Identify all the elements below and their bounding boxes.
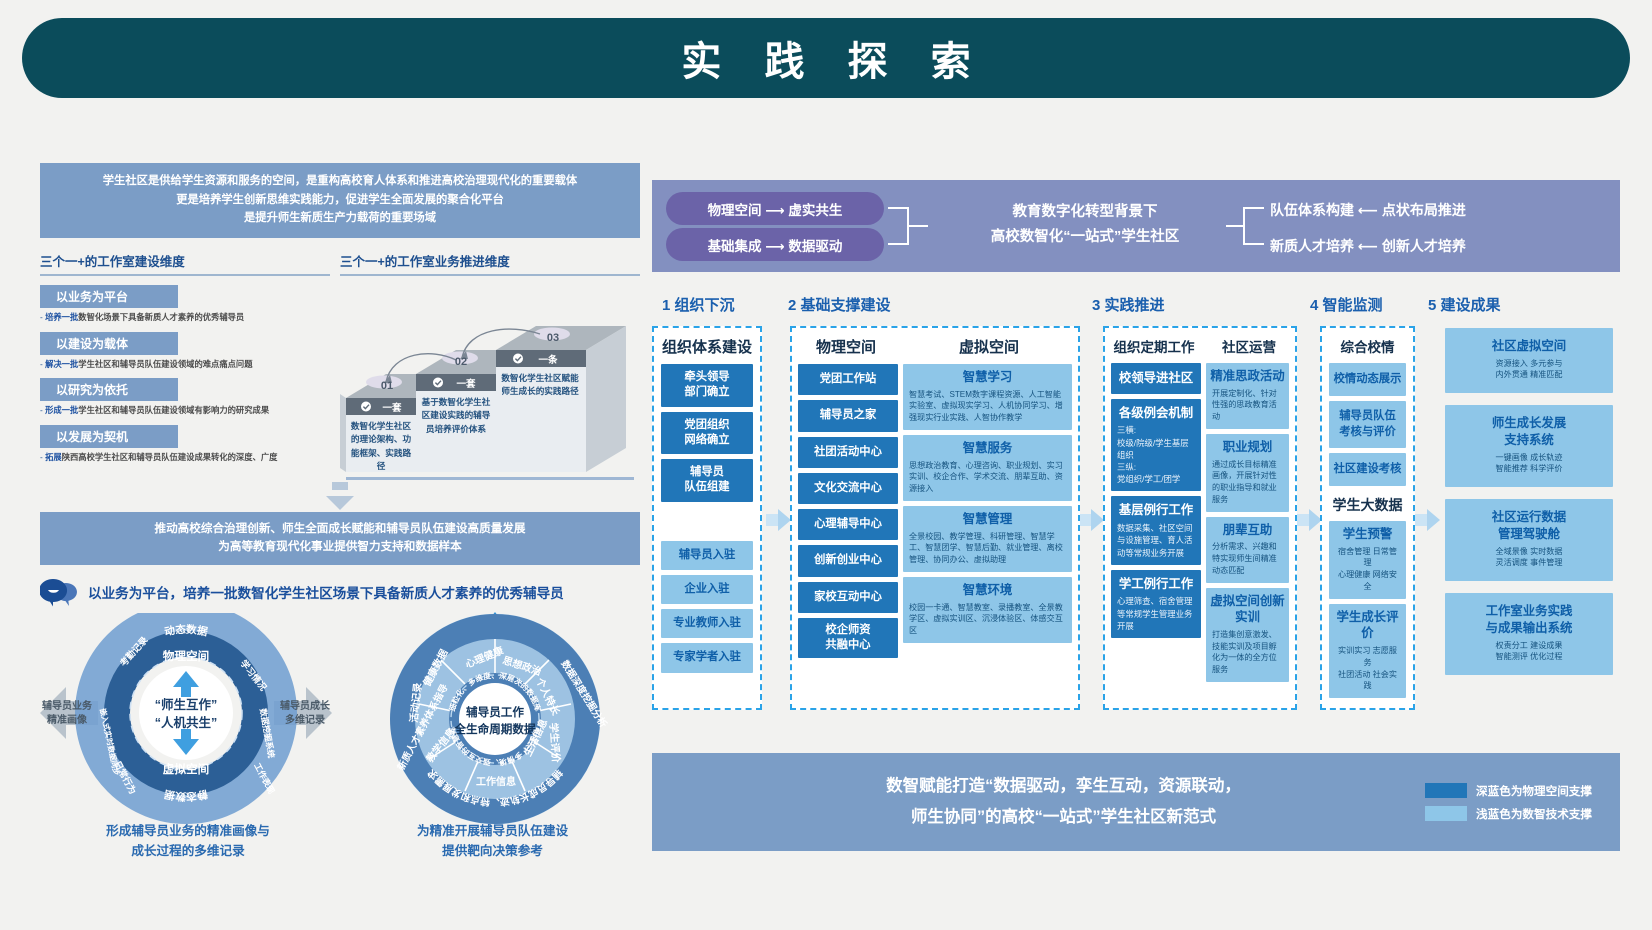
left-panel: 学生社区是供给学生资源和服务的空间，是重构高校育人体系和推进高校治理现代化的重要… [40,163,640,863]
phase4-bottom-2-head: 学生成长评价 [1331,609,1404,642]
business-dimension-section: 三个一+的工作室业务推进维度 [340,251,640,480]
phase4-top-2: 辅导员队伍 考核与评价 [1329,401,1406,448]
phase2-virt-1-sub: 智慧考试、STEM数字课程资源、人工智能实验室、虚拟现实学习、人机协同学习、增强… [905,389,1070,424]
phase3-op-3: 朋辈互助 分析需求、兴趣和特实现师生间精准动态匹配 [1206,517,1289,583]
legend-row-2: 浅蓝色为数智技术支撑 [1425,806,1592,822]
phase3-reg-1: 校领导进社区 [1111,363,1201,394]
phase-4-column: 综合校情 校情动态展示 辅导员队伍 考核与评价 社区建设考核 学生大数据 学生预… [1320,326,1415,710]
intro-line-1: 学生社区是供给学生资源和服务的空间，是重构高校育人体系和推进高校治理现代化的重要… [46,172,634,191]
phase2-physical-list: 党团工作站 辅导员之家 社团活动中心 文化交流中心 心理辅导中心 创新创业中心 … [798,364,898,663]
build-rest-4: 陕西高校学生社区和辅导员队伍建设成果转化的深度、广度 [62,452,278,462]
phase2-virt-4-sub: 校园一卡通、智慧教室、录播教室、全景教学区、虚拟实训区、沉浸体验区、体感交互区 [905,602,1070,637]
phase-5-body: 社区虚拟空间 资源接入 多元参与 内外贯通 精准匹配 师生成长发展 支持系统 一… [1438,326,1620,686]
flow-right-label-2: 新质人才培养 ⟵ 创新人才培养 [1270,232,1466,260]
phase4-bottom-1-sub: 宿舍管理 日常管理 心理健康 网络安全 [1331,546,1404,593]
step-body-3: 数智化学生社区赋能师生成长的实践路径 [498,372,582,399]
phase3-operation-title: 社区运营 [1203,328,1295,363]
column-header-1: 1 组织下沉 [662,294,735,315]
page-banner: 实 践 探 索 [22,18,1630,98]
infographic-root: 实 践 探 索 学生社区是供给学生资源和服务的空间，是重构高校育人体系和推进高校… [0,0,1652,930]
phase5-item-3-sub: 全域景像 实时数据 灵活调度 事件管理 [1447,546,1611,569]
right-core-line-1: 辅导员工作 [466,705,524,719]
legend: 深蓝色为物理空间支撑 浅蓝色为数智技术支撑 [1425,776,1620,829]
right-circle-diagram: 辅导员工作 全生命周期数据 细粒化、多维度、深层次的数据库 可成长、多情境、强交… [345,611,640,831]
left-arrow-label-1b: 精准画像 [47,713,88,726]
phase3-op-4-head: 虚拟空间创新实训 [1208,593,1287,626]
flow-right-label-1: 队伍体系构建 ⟵ 点状布局推进 [1270,196,1466,224]
step-num-2: 02 [436,356,486,368]
phase3-reg-3: 基层例行工作 数据采集、社区空间与设施管理、育人活动等常规业务开展 [1111,496,1201,564]
legend-row-1: 深蓝色为物理空间支撑 [1425,783,1592,799]
left-circle-caption: 形成辅导员业务的精准画像与 成长过程的多维记录 [40,821,336,861]
phase2-virt-1: 智慧学习 智慧考试、STEM数字课程资源、人工智能实验室、虚拟现实学习、人机协同… [903,364,1072,430]
phase-2-body: 党团工作站 辅导员之家 社团活动中心 文化交流中心 心理辅导中心 创新创业中心 … [792,364,1078,669]
step-body-1: 数智化学生社区的理论架构、功能框架、实践路径 [348,420,414,473]
step-chip-3: 一条 [524,352,572,366]
build-dimension-section: 三个一+的工作室建设维度 以业务为平台 - 培养一批数智化场景下具备新质人才素养… [40,251,330,480]
phase2-virt-3: 智慧管理 全景校园、教学管理、科研管理、智慧学工、智慧团学、智慧后勤、就业管理、… [903,506,1072,572]
phase5-item-3-head: 社区运行数据 管理驾驶舱 [1447,509,1611,542]
phase2-virtual-list: 智慧学习 智慧考试、STEM数字课程资源、人工智能实验室、虚拟现实学习、人机协同… [903,364,1072,663]
circular-diagrams: 动态数据 静态数据 考勤记录 学习情况 数据挖掘系统 工作表现 日常行为 嵌入式… [40,611,640,861]
phase3-op-2-head: 职业规划 [1208,439,1287,456]
flow-center-label: 教育数字化转型背景下 高校数智化“一站式”学生社区 [940,200,1230,251]
step-num-3: 03 [528,332,578,344]
steps-baseline [346,477,634,480]
right-caption-line-2: 提供靶向决策参考 [345,841,640,861]
build-rest-2: 学生社区和辅导员队伍建设领域的难点痛点问题 [78,359,252,369]
goal-box: 推动高校综合治理创新、师生全面成长赋能和辅导员队伍建设高质量发展 为高等教育现代… [40,512,640,565]
phase5-item-4-head: 工作室业务实践 与成果输出系统 [1447,603,1611,636]
build-lead-4: 拓展 [45,452,62,462]
page-title: 实 践 探 索 [665,29,986,87]
flow-center-line-2: 高校数智化“一站式”学生社区 [940,225,1230,250]
phase-4-title: 综合校情 [1322,328,1413,363]
build-desc-3: - 形成一批学生社区和辅导员队伍建设领域有影响力的研究成果 [40,405,330,416]
col-num-3: 3 [1092,297,1100,314]
left-circle-diagram: 动态数据 静态数据 考勤记录 学习情况 数据挖掘系统 工作表现 日常行为 嵌入式… [36,613,336,828]
footer-banner: 数智赋能打造“数据驱动，孪生互动，资源联动， 师生协同”的高校“一站式”学生社区… [652,753,1620,851]
phase2-phys-3: 社团活动中心 [798,437,898,468]
left-core-line-1: “师生互作” [155,697,218,712]
col-num-4: 4 [1310,297,1318,314]
phase4-bottom-2-sub: 实训实习 志愿服务 社团活动 社会实践 [1331,645,1404,692]
goal-line-1: 推动高校综合治理创新、师生全面成长赋能和辅导员队伍建设高质量发展 [46,520,634,539]
phase3-op-2-sub: 通过成长目标精准画像，开展针对性的职业指导和就业服务 [1208,459,1287,506]
legend-swatch-dark [1425,783,1467,798]
phase2-virt-4-head: 智慧环境 [905,582,1070,599]
phase1-light-3: 专业教师入驻 [661,609,753,638]
phase2-virt-3-sub: 全景校园、教学管理、科研管理、智慧学工、智慧团学、智慧后勤、就业管理、离校管理、… [905,531,1070,566]
goal-arrow-head [326,496,354,510]
phase3-reg-3-head: 基层例行工作 [1113,502,1199,519]
build-tag-1: 以业务为平台 [40,285,178,308]
intro-box: 学生社区是供给学生资源和服务的空间，是重构高校育人体系和推进高校治理现代化的重要… [40,163,640,238]
business-dimension-heading: 三个一+的工作室业务推进维度 [340,251,640,276]
phase2-phys-1: 党团工作站 [798,364,898,395]
column-header-2: 2 基础支撑建设 [788,294,891,315]
phase2-virt-4: 智慧环境 校园一卡通、智慧教室、录播教室、全景教学区、虚拟实训区、沉浸体验区、体… [903,577,1072,643]
build-tag-3: 以研究为依托 [40,378,178,401]
phase2-virt-2: 智慧服务 思想政治教育、心理咨询、职业规划、实习实训、校企合作、学术交流、朋辈互… [903,435,1072,501]
build-lead-3: 形成一批 [45,405,78,415]
right-core-line-2: 全生命周期数据 [453,722,536,736]
phase3-op-2: 职业规划 通过成长目标精准画像，开展针对性的职业指导和就业服务 [1206,434,1289,512]
phase3-op-4-sub: 打造集创意激发、技能实训及项目孵化为一体的全方位服务 [1208,629,1287,676]
phase1-light-4: 专家学者入驻 [661,643,753,672]
right-segment-6: 工作信息 [476,775,516,788]
phase2-virt-1-head: 智慧学习 [905,369,1070,386]
step-chip-2: 一套 [444,376,488,390]
phase-1-column: 组织体系建设 牵头领导 部门确立 党团组织 网络确立 辅导员 队伍组建 辅导员入… [652,326,762,710]
col-num-1: 1 [662,297,670,314]
footer-text: 数智赋能打造“数据驱动，孪生互动，资源联动， 师生协同”的高校“一站式”学生社区… [652,771,1425,832]
column-header-4: 4 智能监测 [1310,294,1383,315]
phase1-dark-2: 党团组织 网络确立 [661,412,753,455]
speech-bubble-icon [40,577,80,607]
phase1-spacer [661,507,753,541]
legend-swatch-light [1425,806,1467,821]
left-caption-line-1: 形成辅导员业务的精准画像与 [40,821,336,841]
step-num-1: 01 [362,380,412,392]
step-chip-1: 一套 [372,400,412,414]
build-dimension-heading: 三个一+的工作室建设维度 [40,251,330,276]
right-caption-line-1: 为精准开展辅导员队伍建设 [345,821,640,841]
column-header-5: 5 建设成果 [1428,294,1501,315]
footer-line-1: 数智赋能打造“数据驱动，孪生互动，资源联动， [702,771,1425,802]
legend-label-dark: 深蓝色为物理空间支撑 [1476,783,1592,799]
right-panel: 物理空间 ⟶ 虚实共生 基础集成 ⟶ 数据驱动 教育数字化转型背景下 高校数智化… [652,180,1620,721]
phase5-item-1-head: 社区虚拟空间 [1447,338,1611,355]
left-arrow-label-1a: 辅导员业务 [42,699,93,712]
phase3-reg-4-head: 学工例行工作 [1113,576,1199,593]
phase-3-body: 校领导进社区 各级例会机制 三横: 校级/院级/学生基层组织 三纵: 党组织/学… [1105,363,1295,693]
right-circle-caption: 为精准开展辅导员队伍建设 提供靶向决策参考 [345,821,640,861]
phase5-item-1: 社区虚拟空间 资源接入 多元参与 内外贯通 精准匹配 [1445,328,1613,393]
build-lead-2: 解决一批 [45,359,78,369]
left-inner-bottom-label: 虚拟空间 [163,762,209,776]
phase3-operation-list: 精准思政活动 开展定制化、针对性强的思政教育活动 职业规划 通过成长目标精准画像… [1206,363,1289,687]
phase2-virt-2-head: 智慧服务 [905,440,1070,457]
phase-arrow-stem-3 [1297,514,1309,526]
phase-2-column: 物理空间 虚拟空间 党团工作站 辅导员之家 社团活动中心 文化交流中心 心理辅导… [790,326,1080,710]
phase2-phys-8: 校企师资 共融中心 [798,618,898,659]
left-arrow-label-2b: 多维记录 [285,713,325,726]
phase-arrow-stem-1 [766,514,778,526]
phase2-phys-2: 辅导员之家 [798,400,898,431]
phase3-reg-1-head: 校领导进社区 [1113,370,1199,387]
phase3-regular-title: 组织定期工作 [1105,328,1203,363]
col-label-5: 建设成果 [1441,297,1501,314]
phase-arrow-stem-2 [1079,514,1091,526]
goal-arrow [40,482,640,510]
phase3-reg-2: 各级例会机制 三横: 校级/院级/学生基层组织 三纵: 党组织/学工/团学 [1111,399,1201,492]
phase3-op-1: 精准思政活动 开展定制化、针对性强的思政教育活动 [1206,363,1289,429]
build-rest-1: 数智化场景下具备新质人才素养的优秀辅导员 [78,312,244,322]
phase-columns: 组织体系建设 牵头领导 部门确立 党团组织 网络确立 辅导员 队伍组建 辅导员入… [652,326,1620,721]
col-label-3: 实践推进 [1105,297,1165,314]
intro-line-2: 更是培养学生创新思维实践能力，促进学生全面发展的聚合化平台 [46,191,634,210]
build-desc-4: - 拓展陕西高校学生社区和辅导员队伍建设成果转化的深度、广度 [40,452,330,463]
phase4-top-3: 社区建设考核 [1329,453,1406,486]
phase1-light-2: 企业入驻 [661,575,753,604]
phase-arrow-stem-4 [1415,514,1427,526]
phase1-dark-3: 辅导员 队伍组建 [661,459,753,502]
step-body-2: 基于数智化学生社区建设实践的辅导员培养评价体系 [418,396,494,436]
phase3-reg-4-sub: 心理筛查、宿舍管理等常规学生管理业务开展 [1113,595,1199,632]
build-rest-3: 学生社区和辅导员队伍建设领域有影响力的研究成果 [78,405,269,415]
left-arrow-label-2a: 辅导员成长 [280,699,331,712]
left-inner-top-label: 物理空间 [163,649,209,663]
quote-text: 以业务为平台，培养一批数智化学生社区场景下具备新质人才素养的优秀辅导员 [88,582,564,602]
col-label-1: 组织下沉 [675,297,735,314]
build-tag-2: 以建设为载体 [40,332,178,355]
phase5-item-2-head: 师生成长发展 支持系统 [1447,415,1611,448]
phase4-bottom-2: 学生成长评价 实训实习 志愿服务 社团活动 社会实践 [1329,604,1406,698]
phase3-op-1-head: 精准思政活动 [1208,368,1287,385]
phase4-subhead: 学生大数据 [1329,491,1406,521]
col-label-4: 智能监测 [1323,297,1383,314]
phase3-op-3-sub: 分析需求、兴趣和特实现师生间精准动态匹配 [1208,541,1287,576]
phase3-reg-4: 学工例行工作 心理筛查、宿舍管理等常规学生管理业务开展 [1111,570,1201,638]
phase5-item-2: 师生成长发展 支持系统 一键画像 成长轨迹 智能推荐 科学评价 [1445,405,1613,487]
phase1-dark-1: 牵头领导 部门确立 [661,364,753,407]
phase5-item-4: 工作室业务实践 与成果输出系统 权责分工 建设成果 智能测评 优化过程 [1445,593,1613,675]
phase2-virt-2-sub: 思想政治教育、心理咨询、职业规划、实习实训、校企合作、学术交流、朋辈互助、资源接… [905,460,1070,495]
footer-line-2: 师生协同”的高校“一站式”学生社区新范式 [702,802,1425,833]
phase2-phys-5: 心理辅导中心 [798,509,898,540]
column-headers: 1 组织下沉 2 基础支撑建设 3 实践推进 4 智能监测 5 建设成果 [652,286,1620,326]
left-core-line-2: “人机共生” [155,715,218,730]
phase3-op-4: 虚拟空间创新实训 打造集创意激发、技能实训及项目孵化为一体的全方位服务 [1206,588,1289,682]
phase2-phys-4: 文化交流中心 [798,473,898,504]
flow-center-line-1: 教育数字化转型背景下 [940,200,1230,225]
build-desc-1: - 培养一批数智化场景下具备新质人才素养的优秀辅导员 [40,312,330,323]
phase3-reg-2-sub: 三横: 校级/院级/学生基层组织 三纵: 党组织/学工/团学 [1113,424,1199,485]
build-tag-4: 以发展为契机 [40,425,178,448]
phase4-top-1: 校情动态展示 [1329,363,1406,396]
goal-line-2: 为高等教育现代化事业提供智力支持和数据样本 [46,538,634,557]
col-label-2: 基础支撑建设 [801,297,891,314]
phase-5-column: 社区虚拟空间 资源接入 多元参与 内外贯通 精准匹配 师生成长发展 支持系统 一… [1438,326,1620,710]
quote-row: 以业务为平台，培养一批数智化学生社区场景下具备新质人才素养的优秀辅导员 [40,577,640,607]
phase1-light-1: 辅导员入驻 [661,541,753,570]
phase-3-titles: 组织定期工作 社区运营 [1105,328,1295,363]
phase5-item-1-sub: 资源接入 多元参与 内外贯通 精准匹配 [1447,358,1611,381]
left-caption-line-2: 成长过程的多维记录 [40,841,336,861]
legend-label-light: 浅蓝色为数智技术支撑 [1476,806,1592,822]
intro-line-3: 是提升师生新质生产力载荷的重要场域 [46,209,634,228]
three-steps-illustration: 01 02 03 一套 一套 一条 数智化学生社区的理论架构、功能框架、实践路径… [340,290,640,480]
phase-4-body: 校情动态展示 辅导员队伍 考核与评价 社区建设考核 学生大数据 学生预警 宿舍管… [1322,363,1413,709]
dimensions-row: 三个一+的工作室建设维度 以业务为平台 - 培养一批数智化场景下具备新质人才素养… [40,251,640,480]
phase4-bottom-1-head: 学生预警 [1331,526,1404,543]
phase3-reg-3-sub: 数据采集、社区空间与设施管理、育人活动等常规业务开展 [1113,522,1199,559]
col-num-5: 5 [1428,297,1436,314]
col-num-2: 2 [788,297,796,314]
phase4-bottom-1: 学生预警 宿舍管理 日常管理 心理健康 网络安全 [1329,521,1406,599]
phase-1-body: 牵头领导 部门确立 党团组织 网络确立 辅导员 队伍组建 辅导员入驻 企业入驻 … [654,364,760,684]
phase5-item-2-sub: 一键画像 成长轨迹 智能推荐 科学评价 [1447,452,1611,475]
phase-1-title: 组织体系建设 [654,328,760,364]
phase3-regular-list: 校领导进社区 各级例会机制 三横: 校级/院级/学生基层组织 三纵: 党组织/学… [1111,363,1201,687]
column-header-3: 3 实践推进 [1092,294,1165,315]
phase-3-column: 组织定期工作 社区运营 校领导进社区 各级例会机制 三横: 校级/院级/学生基层… [1103,326,1297,710]
phase3-reg-2-head: 各级例会机制 [1113,405,1199,422]
phase2-virt-3-head: 智慧管理 [905,511,1070,528]
phase2-phys-7: 家校互动中心 [798,582,898,613]
phase5-item-4-sub: 权责分工 建设成果 智能测评 优化过程 [1447,640,1611,663]
phase3-op-3-head: 朋辈互助 [1208,522,1287,539]
phase-2-titles: 物理空间 虚拟空间 [792,328,1078,364]
goal-arrow-stem [332,482,348,490]
phase3-op-1-sub: 开展定制化、针对性强的思政教育活动 [1208,388,1287,423]
phase5-item-3: 社区运行数据 管理驾驶舱 全域景像 实时数据 灵活调度 事件管理 [1445,499,1613,581]
build-desc-2: - 解决一批学生社区和辅导员队伍建设领域的难点痛点问题 [40,359,330,370]
top-flow-diagram: 物理空间 ⟶ 虚实共生 基础集成 ⟶ 数据驱动 教育数字化转型背景下 高校数智化… [652,180,1620,272]
phase2-physical-title: 物理空间 [792,328,900,364]
build-lead-1: 培养一批 [45,312,78,322]
phase2-virtual-title: 虚拟空间 [900,328,1078,364]
phase2-phys-6: 创新创业中心 [798,545,898,576]
